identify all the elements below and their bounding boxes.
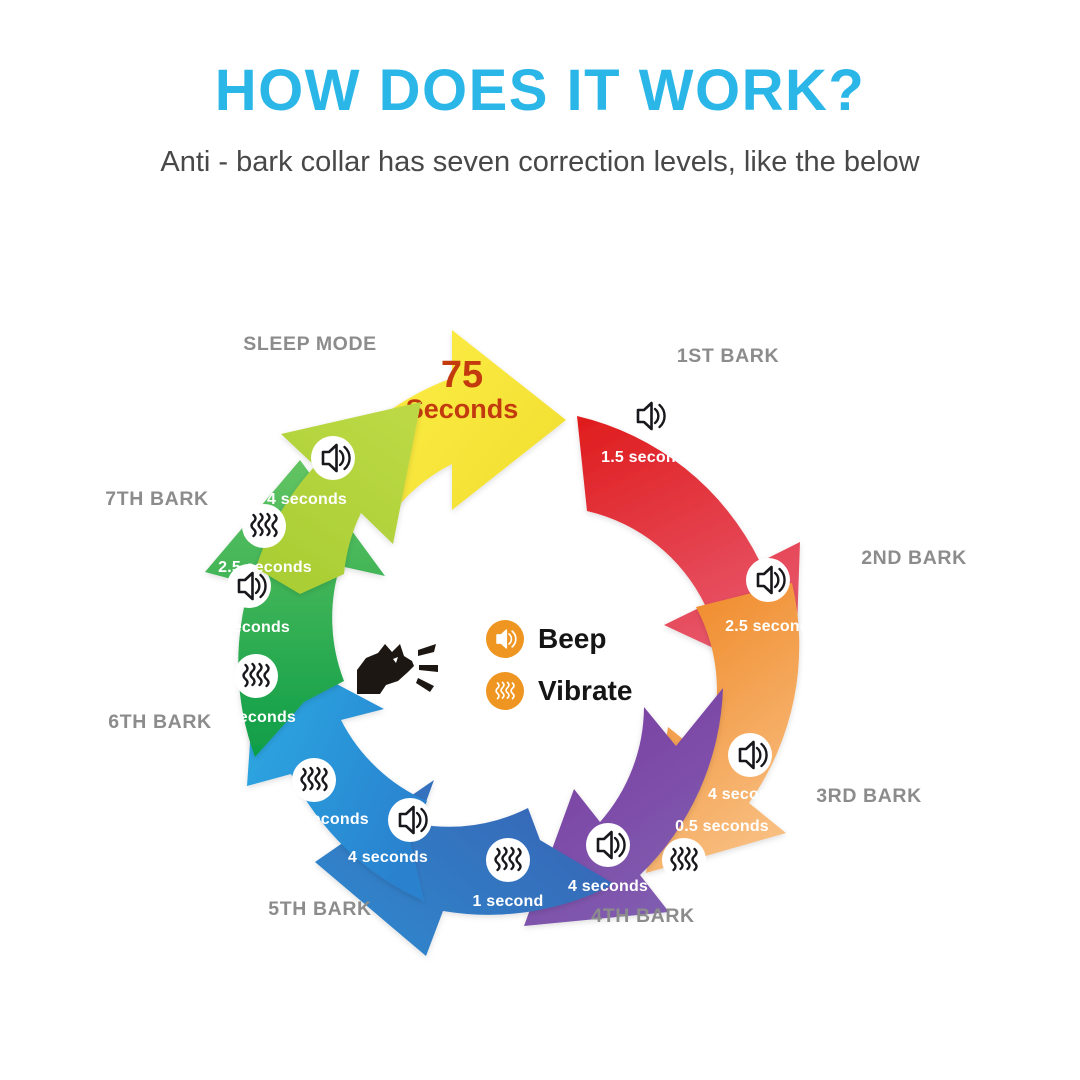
vibrate-duration-bark-3: 0.5 seconds [675,818,769,835]
sleep-mode-value: 75 [441,354,483,396]
vibrate-duration-bark-7: 2.5 seconds [218,559,312,576]
vibrate-waves-icon [486,672,524,710]
legend: Beep Vibrate [352,605,692,725]
header: HOW DOES IT WORK? Anti - bark collar has… [0,0,1080,179]
vibrate-duration-bark-4: 1 second [473,893,544,910]
segment-label-bark-7: 7TH BARK [105,488,208,510]
segment-label-bark-1: 1ST BARK [677,345,779,367]
legend-label-vibrate: Vibrate [538,675,632,707]
vibrate-badge-bark-7 [242,504,286,548]
beep-badge-bark-3 [728,733,772,777]
beep-duration-bark-7: 4 seconds [267,491,347,508]
beep-duration-bark-1: 1.5 seconds [601,449,695,466]
beep-badge-bark-4 [586,823,630,867]
beep-duration-bark-5: 4 seconds [348,849,428,866]
barking-dog-icon [352,628,442,702]
beep-badge-bark-2 [746,558,790,602]
beep-duration-bark-3: 4 seconds [708,786,788,803]
legend-item-beep: Beep [486,620,632,658]
vibrate-duration-bark-6: 2 seconds [216,709,296,726]
segment-label-bark-3: 3RD BARK [816,785,922,807]
beep-badge-bark-1 [626,394,670,438]
vibrate-badge-bark-4 [486,838,530,882]
correction-cycle-diagram: SLEEP MODE 75 Seconds 1ST BARK 1.5 secon… [0,250,1080,1040]
page-title: HOW DOES IT WORK? [0,0,1080,120]
sleep-mode-unit: Seconds [406,394,519,424]
page-subtitle: Anti - bark collar has seven correction … [0,120,1080,179]
segment-label-bark-4: 4TH BARK [591,905,694,927]
beep-duration-bark-6: 4 seconds [210,619,290,636]
segment-label-sleep-mode: SLEEP MODE [243,333,377,355]
vibrate-badge-bark-6 [234,654,278,698]
segment-label-bark-6: 6TH BARK [108,711,211,733]
beep-badge-bark-7 [311,436,355,480]
legend-item-vibrate: Vibrate [486,672,632,710]
vibrate-duration-bark-5: 1.5 seconds [275,811,369,828]
speaker-beep-icon [486,620,524,658]
vibrate-badge-bark-3 [662,838,706,882]
segment-label-bark-5: 5TH BARK [268,898,371,920]
beep-badge-bark-5 [388,798,432,842]
legend-label-beep: Beep [538,623,606,655]
vibrate-badge-bark-5 [292,758,336,802]
segment-label-bark-2: 2ND BARK [861,547,967,569]
legend-rows: Beep Vibrate [464,620,632,710]
beep-duration-bark-4: 4 seconds [568,878,648,895]
beep-duration-bark-2: 2.5 seconds [725,618,819,635]
